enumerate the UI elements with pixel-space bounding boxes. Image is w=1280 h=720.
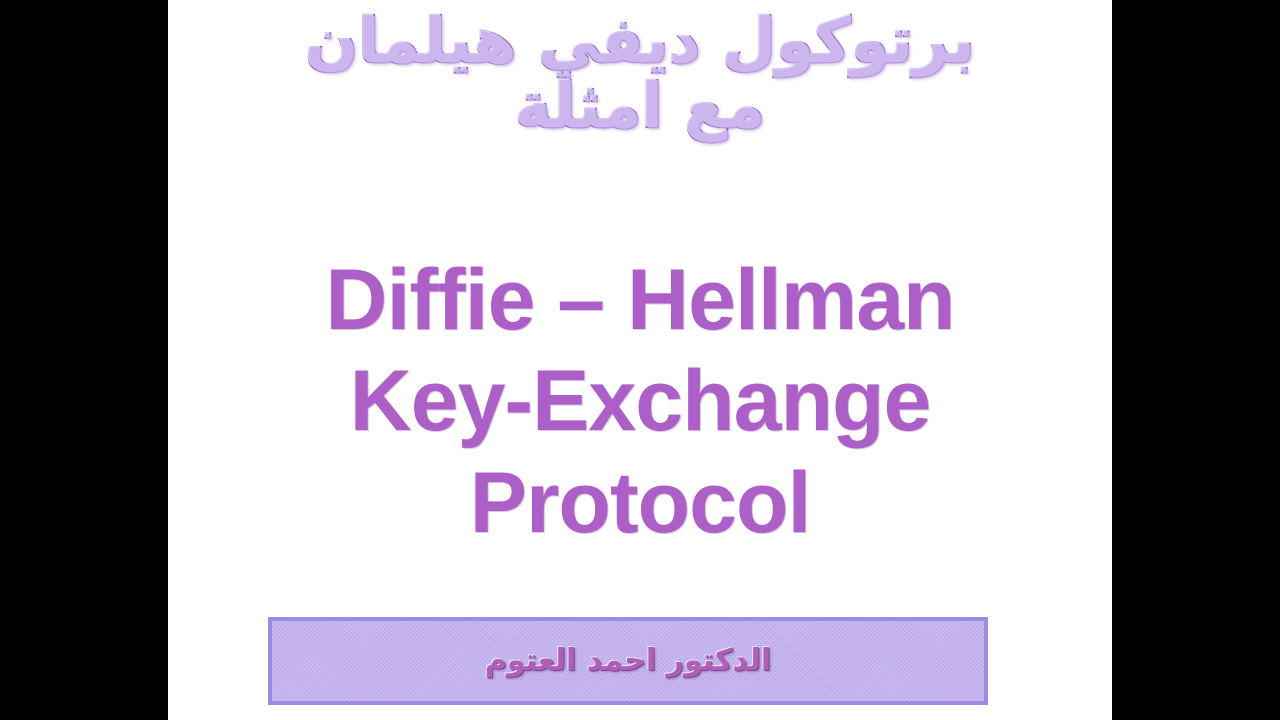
english-title-line-3: Protocol [168, 453, 1112, 554]
arabic-title: برتوكول ديفي هيلمان مع امثلة [168, 8, 1112, 140]
video-frame: برتوكول ديفي هيلمان مع امثلة Diffie – He… [0, 0, 1280, 720]
english-title-line-1: Diffie – Hellman [168, 250, 1112, 351]
letterbox-bar-left [0, 0, 168, 720]
english-title: Diffie – Hellman Key-Exchange Protocol [168, 250, 1112, 554]
arabic-title-line-1: برتوكول ديفي هيلمان [168, 8, 1112, 75]
author-name: الدكتور احمد العتوم [485, 646, 771, 676]
english-title-line-2: Key-Exchange [168, 351, 1112, 452]
presentation-slide: برتوكول ديفي هيلمان مع امثلة Diffie – He… [168, 0, 1112, 720]
letterbox-bar-right [1112, 0, 1280, 720]
author-plaque: الدكتور احمد العتوم [268, 617, 988, 705]
arabic-title-line-2: مع امثلة [168, 73, 1112, 140]
